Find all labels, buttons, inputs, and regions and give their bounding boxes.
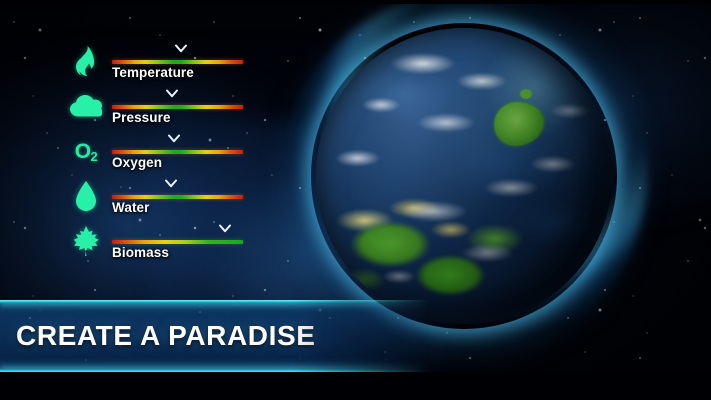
- stat-bar-area-temperature[interactable]: Temperature: [112, 40, 243, 85]
- stat-marker-biomass: [219, 224, 231, 234]
- banner-top-glow-line: [0, 300, 430, 303]
- stat-bar-pressure: [112, 105, 243, 109]
- stat-bar-temperature: [112, 60, 243, 64]
- stat-bar-water: [112, 195, 243, 199]
- stat-bar-biomass: [112, 240, 243, 244]
- stat-row-pressure[interactable]: Pressure: [66, 85, 256, 130]
- stat-marker-oxygen: [168, 134, 180, 144]
- stat-marker-pressure: [166, 89, 178, 99]
- stat-row-biomass[interactable]: Biomass: [66, 220, 256, 265]
- stat-marker-temperature: [175, 44, 187, 54]
- droplet-icon: [66, 177, 106, 215]
- letterbox-top: [0, 0, 711, 4]
- stat-row-temperature[interactable]: Temperature: [66, 40, 256, 85]
- cloud-icon: [66, 87, 106, 125]
- stat-row-water[interactable]: Water: [66, 175, 256, 220]
- o2-icon: O2: [75, 141, 98, 162]
- planet-container[interactable]: [316, 28, 612, 324]
- stat-bar-area-pressure[interactable]: Pressure: [112, 85, 243, 130]
- create-a-paradise-banner: CREATE A PARADISE: [0, 300, 430, 372]
- banner-title: CREATE A PARADISE: [16, 320, 316, 352]
- stat-label-water: Water: [112, 200, 150, 215]
- stat-row-oxygen[interactable]: O2Oxygen: [66, 130, 256, 175]
- stat-bar-oxygen: [112, 150, 243, 154]
- letterbox-bottom: [0, 372, 711, 400]
- stat-label-biomass: Biomass: [112, 245, 169, 260]
- stat-marker-water: [165, 179, 177, 189]
- planet-limb-shading: [316, 28, 612, 324]
- planet-stats-panel: TemperaturePressureO2OxygenWaterBiomass: [66, 40, 256, 265]
- stat-bar-area-oxygen[interactable]: Oxygen: [112, 130, 243, 175]
- stat-bar-area-water[interactable]: Water: [112, 175, 243, 220]
- stat-label-pressure: Pressure: [112, 110, 171, 125]
- earth-like-planet[interactable]: [316, 28, 612, 324]
- stat-label-oxygen: Oxygen: [112, 155, 162, 170]
- stat-bar-area-biomass[interactable]: Biomass: [112, 220, 243, 265]
- leaf-icon: [66, 222, 106, 260]
- stat-label-temperature: Temperature: [112, 65, 194, 80]
- o2-icon: O2: [66, 132, 106, 170]
- flame-icon: [66, 42, 106, 80]
